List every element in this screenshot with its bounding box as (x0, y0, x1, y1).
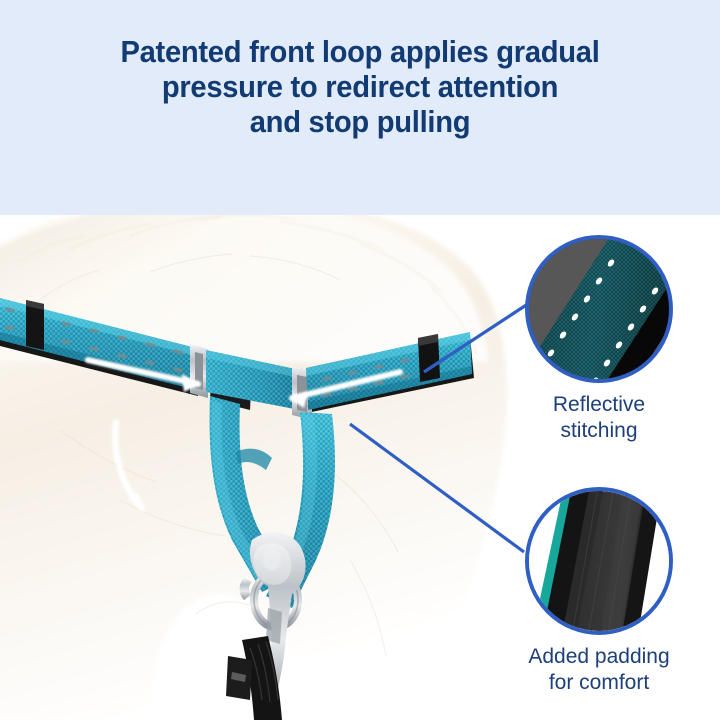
headline-banner: Patented front loop applies gradual pres… (0, 0, 720, 215)
headline-line-1: Patented front loop applies gradual (22, 34, 699, 69)
reflective-stitching-detail-image (525, 235, 673, 383)
reflective-stitching-label: Reflective stitching (484, 392, 714, 444)
page-title: Patented front loop applies gradual pres… (22, 34, 699, 139)
reflective-stitching-label-line-2: stitching (484, 418, 714, 444)
added-padding-label: Added padding for comfort (484, 644, 714, 696)
product-feature-image: Reflective stitching (0, 0, 720, 720)
headline-line-3: and stop pulling (22, 104, 699, 139)
headline-line-2: pressure to redirect attention (22, 69, 699, 104)
reflective-stitching-label-line-1: Reflective (484, 392, 714, 418)
added-padding-label-line-1: Added padding (484, 644, 714, 670)
banner-bottom-curve (0, 175, 720, 215)
added-padding-label-line-2: for comfort (484, 670, 714, 696)
added-padding-detail-image (525, 487, 673, 635)
